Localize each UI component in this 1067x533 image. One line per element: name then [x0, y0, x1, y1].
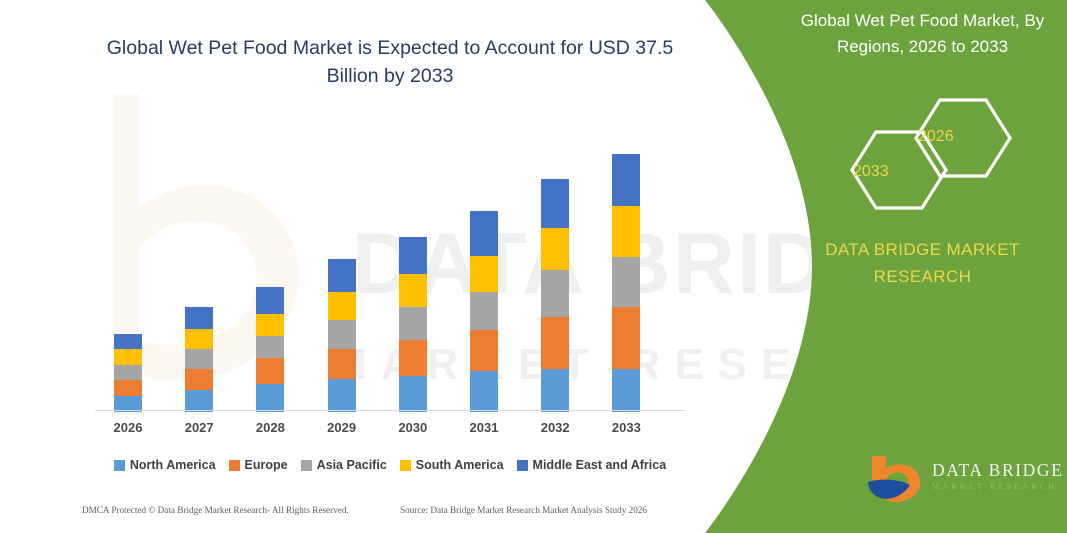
bar-segment	[470, 330, 498, 371]
bar-segment	[541, 228, 569, 271]
bar-segment	[612, 307, 640, 368]
x-axis-line	[95, 410, 685, 411]
legend-swatch-icon	[517, 460, 528, 471]
chart-panel: DATA BRIDGE MARKET RESEARCH Global Wet P…	[0, 0, 760, 533]
hexagon-label-2026: 2026	[918, 128, 954, 146]
bar-segment	[328, 349, 356, 379]
hexagon-pair-icon	[820, 92, 1050, 217]
bar-segment	[470, 211, 498, 256]
legend-label: Europe	[245, 458, 288, 472]
bar-column-2029	[328, 259, 356, 412]
bar-segment	[612, 154, 640, 206]
green-panel-content: Global Wet Pet Food Market, By Regions, …	[790, 0, 1067, 533]
data-bridge-logo: DATA BRIDGE MARKET RESEARCH	[866, 452, 1066, 514]
bar-segment	[399, 274, 427, 307]
bar-segment	[114, 334, 142, 349]
legend-swatch-icon	[229, 460, 240, 471]
legend-item[interactable]: South America	[400, 458, 504, 472]
x-axis-label-2030: 2030	[383, 420, 443, 435]
bar-segment	[185, 307, 213, 328]
stacked-bar-chart	[95, 120, 685, 412]
legend-label: Asia Pacific	[317, 458, 387, 472]
footer-copyright: DMCA Protected © Data Bridge Market Rese…	[82, 505, 349, 515]
bar-segment	[541, 369, 569, 412]
footer: DMCA Protected © Data Bridge Market Rese…	[0, 505, 712, 527]
bar-segment	[541, 179, 569, 227]
legend-swatch-icon	[114, 460, 125, 471]
bar-column-2033	[612, 154, 640, 412]
bar-segment	[328, 292, 356, 320]
bar-segment	[185, 369, 213, 390]
bar-column-2030	[399, 237, 427, 412]
bar-segment	[470, 371, 498, 412]
green-panel-title: Global Wet Pet Food Market, By Regions, …	[785, 8, 1060, 59]
bar-segment	[185, 349, 213, 369]
bar-segment	[114, 380, 142, 396]
legend-label: South America	[416, 458, 504, 472]
legend-item[interactable]: Europe	[229, 458, 288, 472]
bar-segment	[541, 317, 569, 369]
bar-segment	[256, 336, 284, 358]
bar-segment	[470, 292, 498, 330]
bar-segment	[328, 379, 356, 412]
bar-segment	[470, 256, 498, 292]
x-axis-label-2028: 2028	[240, 420, 300, 435]
bar-segment	[185, 329, 213, 349]
bar-segment	[612, 257, 640, 308]
bar-segment	[612, 369, 640, 412]
brand-name: DATA BRIDGE MARKET RESEARCH	[785, 236, 1060, 290]
hexagon-label-2033: 2033	[853, 163, 889, 181]
bar-segment	[541, 270, 569, 317]
x-axis-label-2027: 2027	[169, 420, 229, 435]
bar-column-2032	[541, 179, 569, 412]
logo-wordmark: DATA BRIDGE	[932, 460, 1063, 481]
legend-swatch-icon	[301, 460, 312, 471]
legend-item[interactable]: North America	[114, 458, 216, 472]
data-bridge-mark-icon	[866, 452, 926, 508]
legend-item[interactable]: Middle East and Africa	[517, 458, 667, 472]
bar-column-2028	[256, 287, 284, 412]
bar-segment	[114, 365, 142, 381]
legend-item[interactable]: Asia Pacific	[301, 458, 387, 472]
legend-label: Middle East and Africa	[533, 458, 667, 472]
x-axis-labels: 20262027202820292030203120322033	[95, 420, 685, 444]
bar-column-2031	[470, 211, 498, 412]
x-axis-label-2026: 2026	[98, 420, 158, 435]
bar-segment	[399, 376, 427, 412]
bar-segment	[399, 307, 427, 339]
x-axis-label-2033: 2033	[596, 420, 656, 435]
bar-segment	[256, 314, 284, 336]
bar-segment	[612, 206, 640, 257]
legend-swatch-icon	[400, 460, 411, 471]
bar-segment	[256, 287, 284, 315]
chart-legend: North AmericaEuropeAsia PacificSouth Ame…	[95, 454, 685, 476]
hexagon-badges	[820, 92, 1050, 217]
logo-subtitle: MARKET RESEARCH	[932, 482, 1057, 491]
legend-label: North America	[130, 458, 216, 472]
x-axis-label-2029: 2029	[312, 420, 372, 435]
bar-column-2027	[185, 307, 213, 412]
bar-segment	[328, 259, 356, 292]
x-axis-label-2031: 2031	[454, 420, 514, 435]
bar-segment	[256, 358, 284, 384]
bar-segment	[399, 237, 427, 275]
bar-segment	[256, 384, 284, 412]
page-title: Global Wet Pet Food Market is Expected t…	[90, 34, 690, 91]
bar-segment	[399, 340, 427, 376]
bar-column-2026	[114, 334, 142, 412]
bar-segment	[114, 349, 142, 365]
infographic-canvas: DATA BRIDGE MARKET RESEARCH Global Wet P…	[0, 0, 1067, 533]
x-axis-label-2032: 2032	[525, 420, 585, 435]
bar-segment	[328, 320, 356, 349]
footer-source: Source: Data Bridge Market Research Mark…	[400, 505, 647, 515]
bar-segment	[185, 390, 213, 412]
